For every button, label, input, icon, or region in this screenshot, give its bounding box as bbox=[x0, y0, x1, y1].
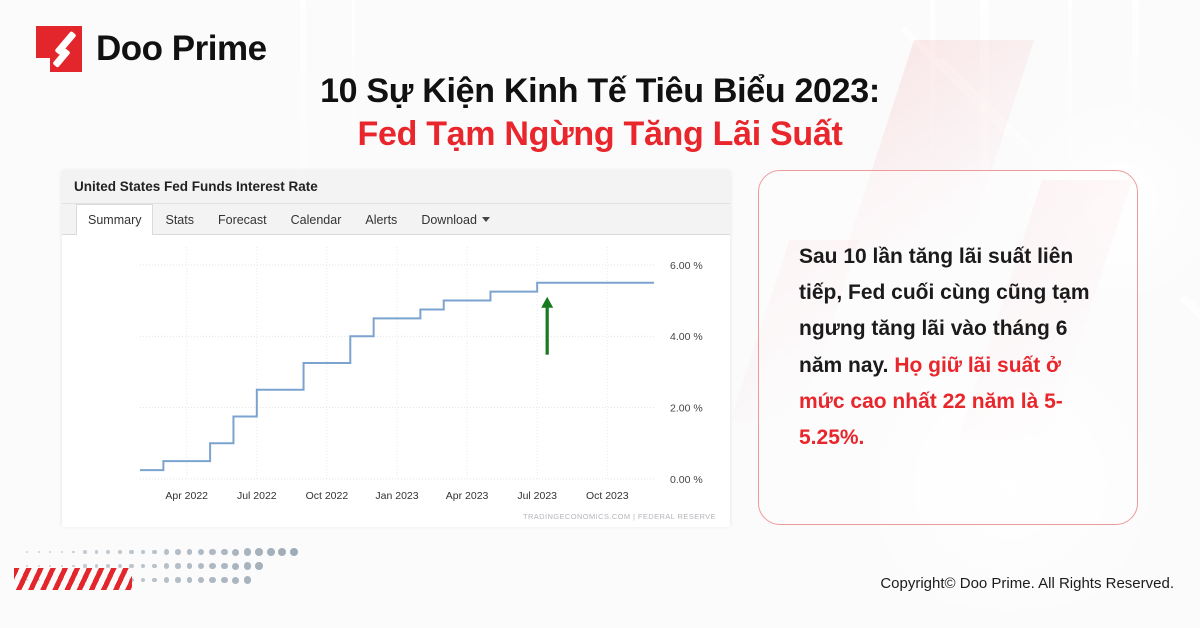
dot bbox=[49, 565, 51, 567]
svg-text:Jan 2023: Jan 2023 bbox=[375, 490, 418, 502]
tab-summary[interactable]: Summary bbox=[76, 204, 153, 235]
dot bbox=[221, 549, 228, 556]
dot bbox=[61, 551, 64, 554]
dot bbox=[95, 550, 98, 553]
tab-forecast[interactable]: Forecast bbox=[206, 204, 279, 234]
dot bbox=[209, 549, 215, 555]
chevron-down-icon bbox=[482, 217, 490, 222]
dot bbox=[255, 548, 263, 556]
svg-text:Jul 2022: Jul 2022 bbox=[237, 490, 277, 502]
dot bbox=[221, 563, 228, 570]
dot bbox=[187, 549, 193, 555]
copyright-text: Copyright© Doo Prime. All Rights Reserve… bbox=[880, 575, 1174, 592]
dot bbox=[118, 550, 122, 554]
svg-text:6.00 %: 6.00 % bbox=[670, 260, 703, 272]
dot bbox=[72, 551, 75, 554]
svg-text:2.00 %: 2.00 % bbox=[670, 403, 703, 415]
dot bbox=[187, 577, 193, 583]
dot bbox=[255, 562, 263, 570]
dot bbox=[141, 550, 146, 555]
tab-stats[interactable]: Stats bbox=[153, 204, 206, 234]
dot bbox=[49, 551, 51, 553]
dot bbox=[244, 562, 251, 569]
svg-text:Jul 2023: Jul 2023 bbox=[517, 490, 557, 502]
tab-download-label: Download bbox=[421, 213, 477, 227]
dot bbox=[244, 548, 251, 555]
dot bbox=[38, 551, 40, 553]
dot bbox=[129, 550, 133, 554]
dot bbox=[152, 550, 157, 555]
svg-text:Apr 2023: Apr 2023 bbox=[446, 490, 489, 502]
chart-plot-area: 0.00 %2.00 %4.00 %6.00 %Apr 2022Jul 2022… bbox=[62, 235, 730, 527]
tab-summary-label: Summary bbox=[88, 213, 141, 227]
dot bbox=[244, 576, 251, 583]
dot bbox=[164, 563, 169, 568]
tab-forecast-label: Forecast bbox=[218, 213, 267, 227]
chart-card: United States Fed Funds Interest Rate Su… bbox=[62, 170, 730, 525]
dot bbox=[290, 548, 299, 557]
dot bbox=[232, 563, 239, 570]
dot bbox=[175, 563, 181, 569]
callout-text: Sau 10 lần tăng lãi suất liên tiếp, Fed … bbox=[799, 239, 1097, 456]
dot bbox=[232, 549, 239, 556]
tab-calendar-label: Calendar bbox=[291, 213, 342, 227]
chart-source-note: TRADINGECONOMICS.COM | FEDERAL RESERVE bbox=[523, 512, 716, 521]
chart-svg: 0.00 %2.00 %4.00 %6.00 %Apr 2022Jul 2022… bbox=[62, 235, 730, 527]
dot bbox=[221, 577, 228, 584]
dot bbox=[141, 578, 146, 583]
brand-logo: Doo Prime bbox=[36, 26, 267, 72]
dot bbox=[141, 564, 146, 569]
dot bbox=[198, 577, 204, 583]
callout-box: Sau 10 lần tăng lãi suất liên tiếp, Fed … bbox=[758, 170, 1138, 525]
svg-text:Apr 2022: Apr 2022 bbox=[165, 490, 208, 502]
chart-tabs: Summary Stats Forecast Calendar Alerts D… bbox=[62, 204, 730, 235]
dot bbox=[278, 548, 286, 556]
chart-title-bar: United States Fed Funds Interest Rate bbox=[62, 170, 730, 204]
dot bbox=[175, 577, 181, 583]
dot bbox=[209, 563, 215, 569]
dot bbox=[26, 551, 28, 553]
dot bbox=[152, 564, 157, 569]
dot bbox=[164, 577, 169, 582]
svg-text:Oct 2022: Oct 2022 bbox=[306, 490, 349, 502]
dot bbox=[187, 563, 193, 569]
dot bbox=[209, 577, 215, 583]
dot bbox=[83, 550, 86, 553]
svg-text:4.00 %: 4.00 % bbox=[670, 331, 703, 343]
tab-download[interactable]: Download bbox=[409, 204, 502, 234]
up-arrow-icon bbox=[541, 297, 553, 355]
tab-calendar[interactable]: Calendar bbox=[279, 204, 354, 234]
dot bbox=[72, 565, 75, 568]
svg-text:0.00 %: 0.00 % bbox=[670, 474, 703, 486]
dot bbox=[175, 549, 181, 555]
red-stripes-decoration bbox=[14, 568, 132, 590]
dot bbox=[26, 565, 28, 567]
page-title: 10 Sự Kiện Kinh Tế Tiêu Biểu 2023: Fed T… bbox=[0, 70, 1200, 155]
tab-alerts[interactable]: Alerts bbox=[353, 204, 409, 234]
dot bbox=[38, 565, 40, 567]
doo-prime-logo-icon bbox=[36, 26, 82, 72]
chart-title: United States Fed Funds Interest Rate bbox=[74, 179, 318, 194]
brand-name: Doo Prime bbox=[96, 29, 267, 69]
dot bbox=[164, 549, 169, 554]
tab-alerts-label: Alerts bbox=[365, 213, 397, 227]
dot bbox=[232, 577, 239, 584]
dot bbox=[61, 565, 64, 568]
svg-text:Oct 2023: Oct 2023 bbox=[586, 490, 629, 502]
dot bbox=[106, 550, 110, 554]
dot bbox=[152, 578, 157, 583]
tab-stats-label: Stats bbox=[165, 213, 194, 227]
dot bbox=[198, 549, 204, 555]
title-line-1: 10 Sự Kiện Kinh Tế Tiêu Biểu 2023: bbox=[0, 70, 1200, 113]
dot bbox=[198, 563, 204, 569]
title-line-2: Fed Tạm Ngừng Tăng Lãi Suất bbox=[0, 113, 1200, 156]
dot bbox=[267, 548, 275, 556]
